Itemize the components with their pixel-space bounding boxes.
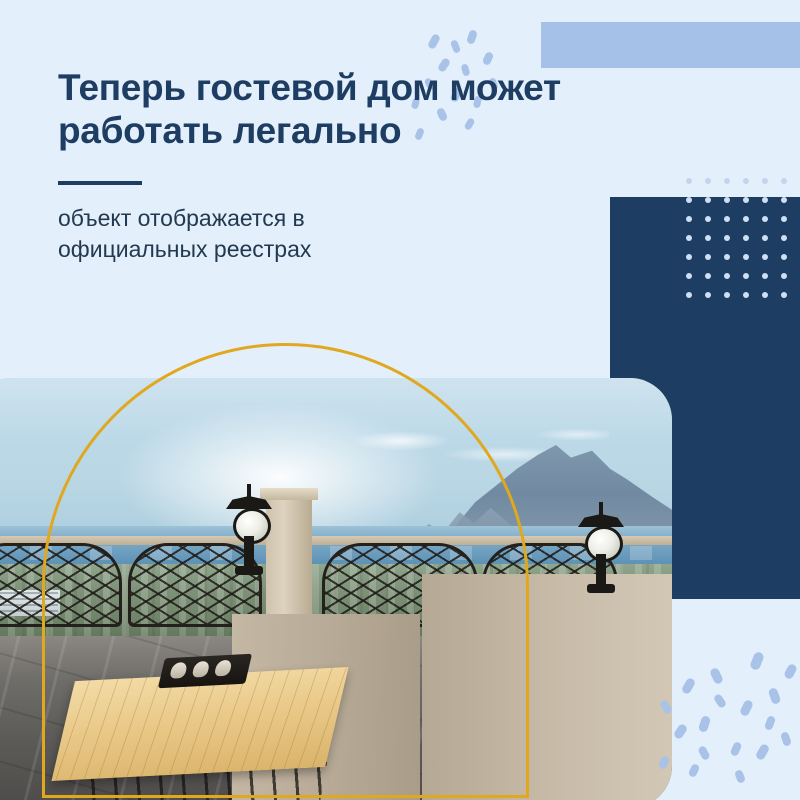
scatter-capsule [698,715,712,733]
grid-dot [686,235,692,241]
guest-house-photo [0,378,672,800]
grid-dot [762,197,768,203]
grid-dot [705,216,711,222]
street-lamp-icon [578,504,624,590]
grid-dot [743,254,749,260]
lamp-base [587,584,615,593]
grid-dot [743,235,749,241]
grid-dot [781,178,787,184]
tea-cup [191,661,210,678]
grid-dot [743,216,749,222]
grid-dot [781,292,787,298]
scatter-capsule [681,677,697,695]
scatter-capsule [755,743,771,761]
scatter-capsule [739,699,754,717]
lamp-spike [599,502,603,516]
grid-dot [762,178,768,184]
grid-dot [686,254,692,260]
tea-cup [169,662,188,679]
grid-dot [705,292,711,298]
scatter-capsule [713,693,727,709]
grid-dot [724,197,730,203]
grid-dot [686,273,692,279]
scatter-capsule [427,33,441,50]
scatter-capsule [780,731,792,747]
top-accent-bar [541,22,800,68]
grid-dot [686,178,692,184]
scatter-capsule [734,769,746,784]
scatter-capsule [729,741,742,757]
grid-dot [724,178,730,184]
scatter-capsule [783,663,798,680]
photo-wall-right [422,574,672,800]
scatter-capsule [768,687,782,705]
grid-dot [705,273,711,279]
grid-dot [743,197,749,203]
grid-dot [781,273,787,279]
street-lamp-icon [226,486,272,572]
tea-tray [158,654,252,688]
page-subtitle: объект отображается в официальных реестр… [58,203,458,264]
photo-pillar [266,496,312,614]
grid-dot [705,254,711,260]
scatter-capsule [709,667,724,685]
tea-cup [214,660,233,677]
poster-canvas: Теперь гостевой дом может работать легал… [0,0,800,800]
grid-dot [705,197,711,203]
grid-dot [743,178,749,184]
scatter-capsule [688,763,701,778]
page-title: Теперь гостевой дом может работать легал… [58,66,668,153]
scatter-capsule [450,39,461,54]
grid-dot [743,292,749,298]
grid-dot [762,235,768,241]
grid-dot [686,292,692,298]
scatter-capsule [482,51,495,66]
grid-dot [724,254,730,260]
title-divider [58,181,142,185]
grid-dot [762,254,768,260]
grid-dot [781,197,787,203]
scatter-capsule [697,745,711,761]
lamp-hat [226,496,272,509]
scatter-capsule [749,651,765,671]
grid-dot [743,273,749,279]
grid-dot [705,178,711,184]
lamp-base [235,566,263,575]
grid-dot [686,216,692,222]
grid-dot [724,235,730,241]
scatter-capsule [466,29,478,45]
grid-dot [724,273,730,279]
lamp-hat [578,514,624,527]
grid-dot [781,254,787,260]
grid-dot [781,216,787,222]
scatter-capsule [764,715,776,731]
scatter-capsule [673,723,689,740]
grid-dot [686,197,692,203]
dot-grid-pattern [686,178,800,312]
grid-dot [762,216,768,222]
grid-dot [724,292,730,298]
grid-dot [705,235,711,241]
grid-dot [762,292,768,298]
lamp-spike [247,484,251,498]
grid-dot [762,273,768,279]
railing-panel [0,543,122,627]
grid-dot [724,216,730,222]
grid-dot [781,235,787,241]
